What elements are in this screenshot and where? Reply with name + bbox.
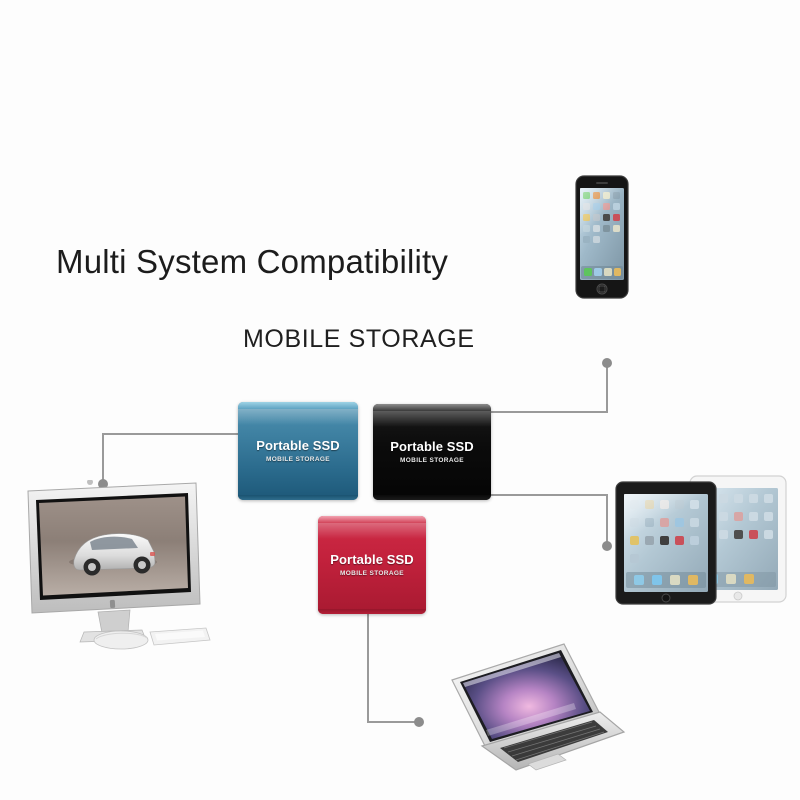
connector-black-to-tablet-vertical bbox=[606, 494, 608, 544]
ssd-brand-label: Portable SSD bbox=[390, 440, 474, 453]
page-subtitle: MOBILE STORAGE bbox=[243, 325, 475, 354]
product-ssd-teal[interactable]: Portable SSD MOBILE STORAGE bbox=[238, 402, 358, 500]
ssd-top-cap bbox=[238, 402, 358, 409]
page-title: Multi System Compatibility bbox=[56, 243, 448, 281]
ssd-bottom-edge bbox=[373, 495, 491, 500]
connector-endpoint-laptop bbox=[414, 717, 424, 727]
product-ssd-red[interactable]: Portable SSD MOBILE STORAGE bbox=[318, 516, 426, 614]
marketing-image-canvas: Multi System Compatibility MOBILE STORAG… bbox=[0, 0, 800, 800]
ssd-gloss-highlight bbox=[373, 411, 491, 427]
ssd-top-cap bbox=[373, 404, 491, 411]
device-laptop-computer bbox=[424, 636, 628, 778]
connector-black-to-phone-horizontal bbox=[491, 411, 608, 413]
device-desktop-computer bbox=[18, 480, 214, 650]
connector-red-to-laptop-vertical bbox=[367, 614, 369, 722]
connector-black-to-phone-vertical bbox=[606, 365, 608, 413]
device-smartphone bbox=[558, 172, 644, 304]
connector-red-to-laptop-horizontal bbox=[367, 721, 419, 723]
ssd-bottom-edge bbox=[318, 609, 426, 614]
ssd-brand-label: Portable SSD bbox=[330, 553, 414, 566]
imac-keyboard bbox=[150, 628, 210, 645]
connector-black-to-tablet-horizontal bbox=[491, 494, 608, 496]
ssd-top-cap bbox=[318, 516, 426, 523]
connector-teal-to-imac-horizontal bbox=[102, 433, 240, 435]
imac-mouse bbox=[94, 631, 148, 649]
connector-endpoint-tablet bbox=[602, 541, 612, 551]
tablet-black bbox=[616, 482, 716, 604]
ssd-sub-label: MOBILE STORAGE bbox=[266, 456, 330, 463]
ssd-gloss-highlight bbox=[318, 523, 426, 539]
ssd-gloss-highlight bbox=[238, 409, 358, 425]
ssd-bottom-edge bbox=[238, 495, 358, 500]
ssd-sub-label: MOBILE STORAGE bbox=[400, 457, 464, 464]
ssd-sub-label: MOBILE STORAGE bbox=[340, 570, 404, 577]
product-ssd-black[interactable]: Portable SSD MOBILE STORAGE bbox=[373, 404, 491, 500]
imac-chassis bbox=[28, 483, 200, 642]
device-tablet-pair bbox=[612, 472, 792, 610]
ssd-brand-label: Portable SSD bbox=[256, 439, 340, 452]
connector-teal-to-imac-vertical bbox=[102, 433, 104, 483]
connector-endpoint-phone bbox=[602, 358, 612, 368]
